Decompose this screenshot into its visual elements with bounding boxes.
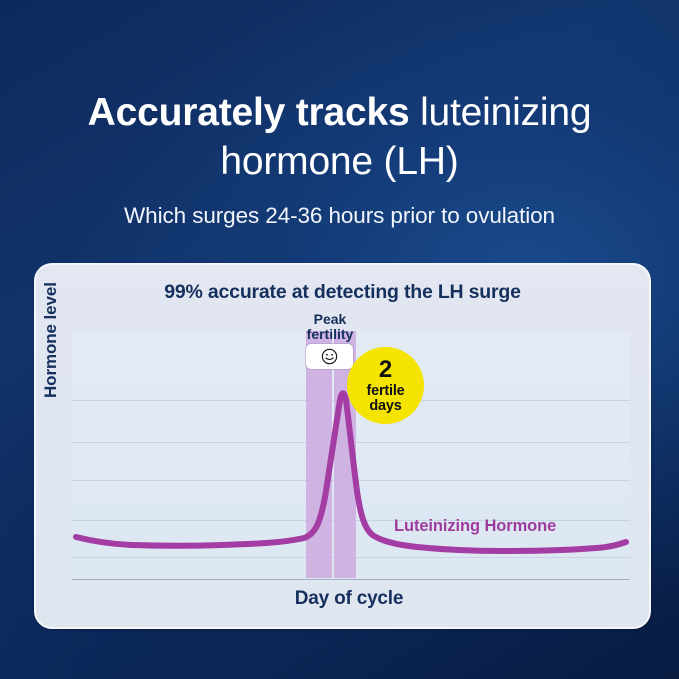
page-title: Accurately tracks luteinizing hormone (L… [0,88,679,186]
fertile-days-label-line2: days [369,399,401,414]
page-subtitle: Which surges 24-36 hours prior to ovulat… [0,203,679,229]
peak-fertility-label: Peak fertility [258,312,402,342]
series-legend-lh: Luteinizing Hormone [394,517,556,536]
peak-fertility-label-line2: fertility [307,326,354,342]
smiley-face-icon [321,348,338,365]
smiley-indicator-chip [306,344,353,369]
headline-emphasis: Accurately tracks [88,91,410,134]
promo-graphic: Accurately tracks luteinizing hormone (L… [0,0,679,679]
headline-line2: hormone (LH) [220,140,458,183]
fertile-days-count: 2 [379,358,392,382]
chart-title: 99% accurate at detecting the LH surge [36,281,649,304]
headline-rest: luteinizing [409,91,591,134]
fertile-days-badge: 2 fertile days [347,347,424,424]
x-axis-line [72,579,630,581]
x-axis-label: Day of cycle [70,588,628,610]
fertile-days-label-line1: fertile [366,384,404,399]
peak-fertility-label-line1: Peak [314,311,347,327]
y-axis-label: Hormone level [41,218,61,398]
